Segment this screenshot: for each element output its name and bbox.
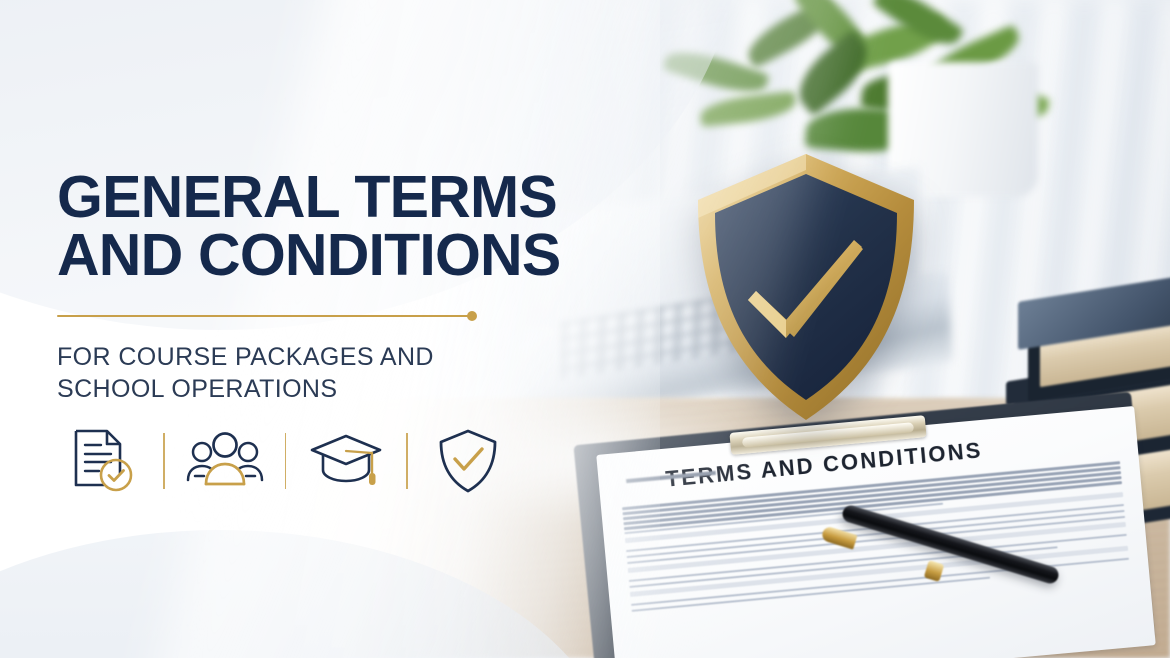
terms-and-conditions-banner: TERMS AND CONDITIONS (0, 0, 1170, 658)
icon-separator-3 (406, 433, 408, 489)
gold-divider (57, 311, 477, 321)
gold-divider-dot (467, 311, 477, 321)
feature-icon-row (57, 428, 514, 494)
page-subtitle: FOR COURSE PACKAGES AND SCHOOL OPERATION… (57, 341, 657, 406)
page-title: GENERAL TERMS AND CONDITIONS (57, 168, 657, 285)
shield-check-icon (422, 428, 514, 494)
people-group-icon (179, 432, 271, 490)
document-check-icon (57, 428, 149, 494)
headline-block: GENERAL TERMS AND CONDITIONS FOR COURSE … (57, 168, 657, 406)
gold-divider-line (57, 315, 469, 318)
icon-separator-2 (285, 433, 287, 489)
graduation-cap-icon (300, 431, 392, 491)
icon-separator-1 (163, 433, 165, 489)
